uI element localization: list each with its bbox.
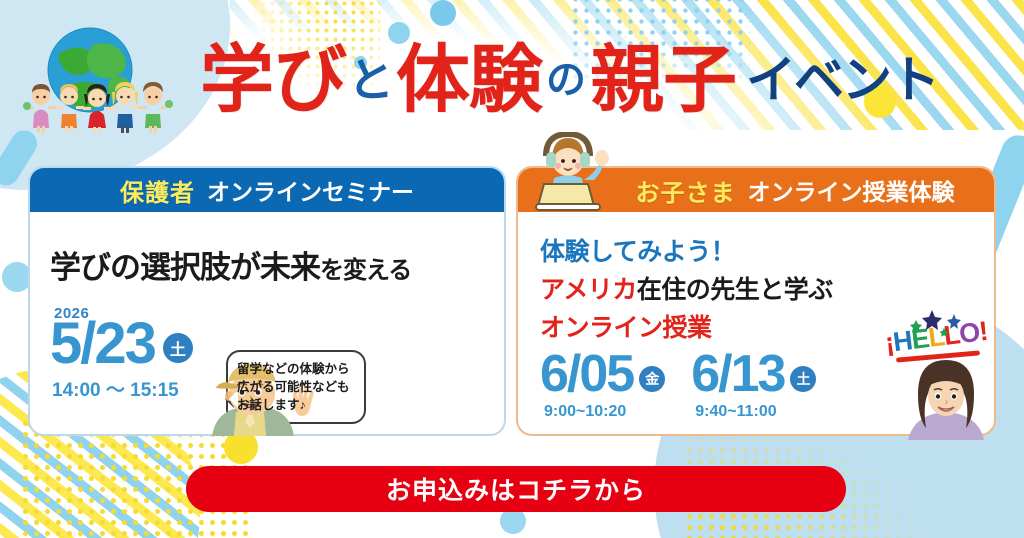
bubble-line-2: 広がる可能性なども bbox=[237, 378, 355, 396]
child-lead-line-2-rest: 在住の先生と学ぶ bbox=[637, 276, 833, 304]
apply-button-label: お申込みはコチラから bbox=[386, 471, 646, 507]
child-session-1-date: 6/05 bbox=[540, 350, 633, 399]
parent-event-day-of-week: 土 bbox=[163, 333, 193, 363]
title-part-6: イベント bbox=[736, 55, 938, 105]
parent-card-tag: 保護者 bbox=[120, 173, 195, 208]
page-title: 学び と 体験 の 親子 イベント bbox=[200, 38, 960, 122]
parent-headline-main: 学びの選択肢が未来 bbox=[50, 250, 320, 285]
blue-dot-3 bbox=[430, 0, 456, 26]
star-icon-group bbox=[902, 308, 972, 349]
child-lead-line-2-highlight: アメリカ bbox=[540, 276, 637, 304]
parent-card-body: 学びの選択肢が未来を変える 2026 5/23 土 14:00 ～ 15:15 … bbox=[30, 212, 504, 436]
child-card-tag: お子さま bbox=[636, 173, 736, 208]
child-session-2: 6/13 土 9:40~11:00 bbox=[691, 350, 816, 421]
hello-char-7: ! bbox=[978, 316, 990, 347]
bubble-line-3: お話します♪ bbox=[237, 396, 355, 414]
female-teacher-illustration bbox=[904, 354, 990, 440]
title-part-5: 親子 bbox=[590, 43, 736, 117]
child-session-2-time: 9:40~11:00 bbox=[695, 403, 816, 421]
child-card-body: 体験してみよう！ アメリカ在住の先生と学ぶ オンライン授業 6/05 金 9:0… bbox=[518, 212, 994, 436]
event-banner: 学び と 体験 の 親子 イベント 保護者 オンラインセミナー 学びの選択肢が未… bbox=[0, 0, 1024, 538]
child-session-2-date: 6/13 bbox=[691, 350, 784, 399]
parent-seminar-card: 保護者 オンラインセミナー 学びの選択肢が未来を変える 2026 5/23 土 … bbox=[28, 166, 506, 436]
parent-card-header: 保護者 オンラインセミナー bbox=[30, 168, 504, 212]
child-session-1: 6/05 金 9:00~10:20 bbox=[540, 350, 665, 421]
title-part-1: 学び bbox=[200, 43, 346, 117]
title-part-3: 体験 bbox=[396, 43, 542, 117]
title-part-4: の bbox=[542, 60, 590, 100]
child-lead-line-2: アメリカ在住の先生と学ぶ bbox=[540, 270, 978, 306]
presenter-speech-bubble: 留学などの体験から 広がる可能性なども お話します♪ bbox=[226, 350, 366, 424]
child-with-headphones-laptop-illustration bbox=[530, 132, 620, 214]
child-lead-line-1: 体験してみよう！ bbox=[540, 232, 978, 268]
child-session-1-day-of-week: 金 bbox=[639, 366, 665, 392]
parent-card-headline: 学びの選択肢が未来を変える bbox=[50, 242, 488, 287]
bubble-line-1: 留学などの体験から bbox=[237, 360, 355, 378]
parent-card-subtitle: オンラインセミナー bbox=[207, 173, 414, 207]
child-class-card: お子さま オンライン授業体験 体験してみよう！ アメリカ在住の先生と学ぶ オンラ… bbox=[516, 166, 996, 436]
child-session-2-date-row: 6/13 土 bbox=[691, 350, 816, 399]
child-session-1-date-row: 6/05 金 bbox=[540, 350, 665, 399]
globe-with-children-illustration bbox=[16, 18, 206, 133]
child-session-1-time: 9:00~10:20 bbox=[544, 403, 665, 421]
apply-button[interactable]: お申込みはコチラから bbox=[186, 466, 846, 512]
parent-event-date: 5/23 bbox=[50, 316, 155, 371]
title-part-2: と bbox=[346, 57, 396, 103]
child-session-2-day-of-week: 土 bbox=[790, 366, 816, 392]
child-card-subtitle: オンライン授業体験 bbox=[748, 173, 955, 207]
parent-headline-tail: を変える bbox=[320, 257, 411, 284]
